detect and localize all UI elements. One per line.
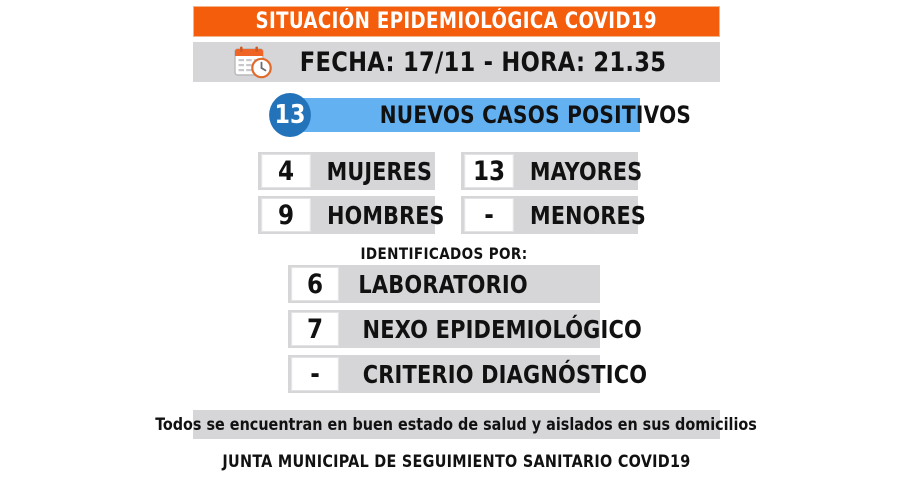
identified-value: - [291, 357, 339, 391]
demographics-section: 4 MUJERES 9 HOMBRES 13 MAYORES - MENORES [258, 152, 638, 234]
status-note-text: Todos se encuentran en buen estado de sa… [156, 415, 758, 435]
covid-report-poster: SITUACIÓN EPIDEMIOLÓGICA COVID19 FECHA: … [0, 0, 900, 482]
organization-line: JUNTA MUNICIPAL DE SEGUIMIENTO SANITARIO… [209, 452, 704, 472]
identified-by-list: 6 LABORATORIO 7 NEXO EPIDEMIOLÓGICO - CR… [288, 265, 600, 393]
identified-value: 6 [291, 267, 339, 301]
demographics-right-column: 13 MAYORES - MENORES [461, 152, 638, 234]
new-cases-row: NUEVOS CASOS POSITIVOS 13 [268, 93, 640, 137]
identified-label: LABORATORIO [358, 270, 527, 299]
status-note-bar: Todos se encuentran en buen estado de sa… [193, 410, 720, 439]
stat-label: MAYORES [530, 157, 642, 186]
identified-value: 7 [291, 312, 339, 346]
stat-row: 4 MUJERES [258, 152, 435, 190]
stat-row: 13 MAYORES [461, 152, 638, 190]
identified-by-title: IDENTIFICADOS POR: [297, 244, 590, 263]
stat-label: MENORES [530, 201, 646, 230]
new-cases-bar: NUEVOS CASOS POSITIVOS [300, 98, 640, 132]
page-title: SITUACIÓN EPIDEMIOLÓGICA COVID19 [256, 9, 657, 34]
identified-row: - CRITERIO DIAGNÓSTICO [288, 355, 600, 393]
identified-row: 7 NEXO EPIDEMIOLÓGICO [288, 310, 600, 348]
new-cases-label: NUEVOS CASOS POSITIVOS [380, 101, 691, 129]
identified-label: CRITERIO DIAGNÓSTICO [363, 360, 647, 389]
stat-value: 4 [261, 154, 310, 188]
demographics-left-column: 4 MUJERES 9 HOMBRES [258, 152, 435, 234]
stat-value: 13 [464, 154, 513, 188]
stat-label: MUJERES [327, 157, 432, 186]
datetime-bar: FECHA: 17/11 - HORA: 21.35 [193, 42, 720, 82]
stat-value: - [464, 198, 513, 232]
stat-value: 9 [261, 198, 310, 232]
stat-row: 9 HOMBRES [258, 196, 435, 234]
stat-row: - MENORES [461, 196, 638, 234]
new-cases-count: 13 [269, 93, 311, 137]
header-banner: SITUACIÓN EPIDEMIOLÓGICA COVID19 [193, 6, 720, 37]
identified-row: 6 LABORATORIO [288, 265, 600, 303]
datetime-text: FECHA: 17/11 - HORA: 21.35 [300, 47, 666, 78]
stat-label: HOMBRES [327, 201, 445, 230]
calendar-clock-icon [232, 45, 274, 79]
identified-label: NEXO EPIDEMIOLÓGICO [363, 315, 642, 344]
